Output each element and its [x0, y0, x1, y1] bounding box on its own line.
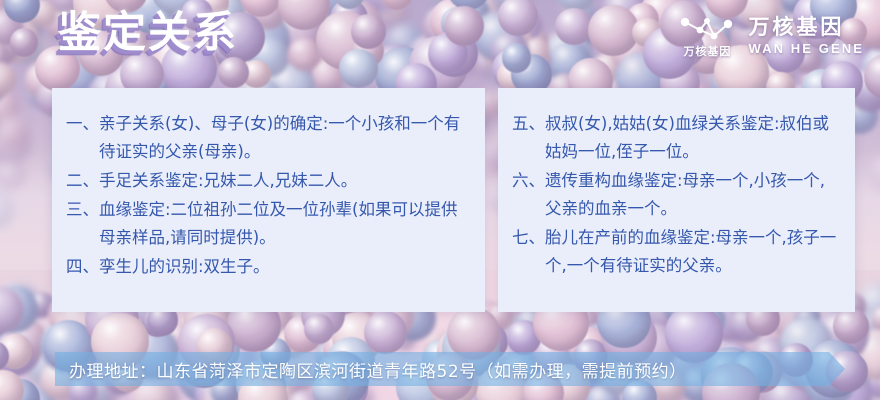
list-item-text: 手足关系鉴定:兄妹二人,兄妹二人。 — [99, 167, 471, 195]
address-text: 办理地址：山东省菏泽市定陶区滨河街道青年路52号（如需办理，需提前预约） — [55, 357, 687, 382]
brand-mark: 万核基因 — [676, 14, 738, 59]
info-panel-left: 一、亲子关系(女)、母子(女)的确定:一个小孩和一个有待证实的父亲(母亲)。二、… — [52, 88, 485, 312]
decorative-sphere — [498, 0, 537, 36]
decorative-sphere — [447, 307, 500, 360]
brand-name-cn: 万核基因 — [748, 17, 844, 40]
list-item-text: 血缘鉴定:二位祖孙二位及一位孙辈(如果可以提供母亲样品,请同时提供)。 — [99, 196, 471, 252]
list-item-number: 四、 — [66, 253, 99, 281]
address-bar: 办理地址：山东省菏泽市定陶区滨河街道青年路52号（如需办理，需提前预约） — [55, 352, 845, 386]
list-item-number: 三、 — [66, 196, 99, 224]
list-item-number: 七、 — [512, 224, 545, 252]
brand-name-en: WAN HE GENE — [748, 42, 864, 56]
brand-logo: 万核基因 万核基因 WAN HE GENE — [676, 14, 864, 59]
decorative-sphere — [0, 189, 15, 229]
info-panel-right: 五、叔叔(女),姑姑(女)血绿关系鉴定:叔伯或姑妈一位,侄子一位。六、遗传重构血… — [498, 88, 855, 312]
list-item-text: 胎儿在产前的血缘鉴定:母亲一个,孩子一个,一个有待证实的父亲。 — [545, 224, 841, 280]
decorative-sphere — [502, 43, 531, 72]
list-item: 五、叔叔(女),姑姑(女)血绿关系鉴定:叔伯或姑妈一位,侄子一位。 — [512, 110, 841, 166]
decorative-sphere — [218, 57, 249, 88]
info-list-left: 一、亲子关系(女)、母子(女)的确定:一个小孩和一个有待证实的父亲(母亲)。二、… — [52, 88, 485, 312]
info-list-right: 五、叔叔(女),姑姑(女)血绿关系鉴定:叔伯或姑妈一位,侄子一位。六、遗传重构血… — [498, 88, 855, 312]
list-item-number: 一、 — [66, 110, 99, 138]
list-item: 二、手足关系鉴定:兄妹二人,兄妹二人。 — [66, 167, 471, 195]
brand-mark-label: 万核基因 — [683, 43, 731, 59]
list-item-text: 亲子关系(女)、母子(女)的确定:一个小孩和一个有待证实的父亲(母亲)。 — [99, 110, 471, 166]
decorative-sphere — [0, 62, 16, 96]
list-item-number: 二、 — [66, 167, 99, 195]
molecule-icon — [676, 14, 738, 42]
decorative-sphere — [868, 153, 880, 196]
decorative-sphere — [555, 8, 592, 45]
decorative-sphere — [588, 5, 640, 57]
decorative-sphere — [0, 160, 26, 191]
decorative-sphere — [339, 49, 378, 88]
list-item-text: 遗传重构血缘鉴定:母亲一个,小孩一个,父亲的血亲一个。 — [545, 167, 841, 223]
list-item: 三、血缘鉴定:二位祖孙二位及一位孙辈(如果可以提供母亲样品,请同时提供)。 — [66, 196, 471, 252]
list-item: 四、孪生儿的识别:双生子。 — [66, 253, 471, 281]
list-item: 七、胎儿在产前的血缘鉴定:母亲一个,孩子一个,一个有待证实的父亲。 — [512, 224, 841, 280]
decorative-sphere — [10, 28, 38, 56]
list-item-text: 叔叔(女),姑姑(女)血绿关系鉴定:叔伯或姑妈一位,侄子一位。 — [545, 110, 841, 166]
list-item: 一、亲子关系(女)、母子(女)的确定:一个小孩和一个有待证实的父亲(母亲)。 — [66, 110, 471, 166]
page-title: 鉴定关系 — [58, 12, 238, 55]
list-item-number: 五、 — [512, 110, 545, 138]
brand-wordmark: 万核基因 WAN HE GENE — [748, 17, 864, 56]
list-item: 六、遗传重构血缘鉴定:母亲一个,小孩一个,父亲的血亲一个。 — [512, 167, 841, 223]
decorative-sphere — [444, 6, 484, 46]
poster-canvas: 鉴定关系 — [0, 0, 880, 400]
list-item-number: 六、 — [512, 167, 545, 195]
decorative-sphere — [364, 311, 407, 354]
decorative-sphere — [351, 14, 385, 48]
list-item-text: 孪生儿的识别:双生子。 — [99, 253, 471, 281]
